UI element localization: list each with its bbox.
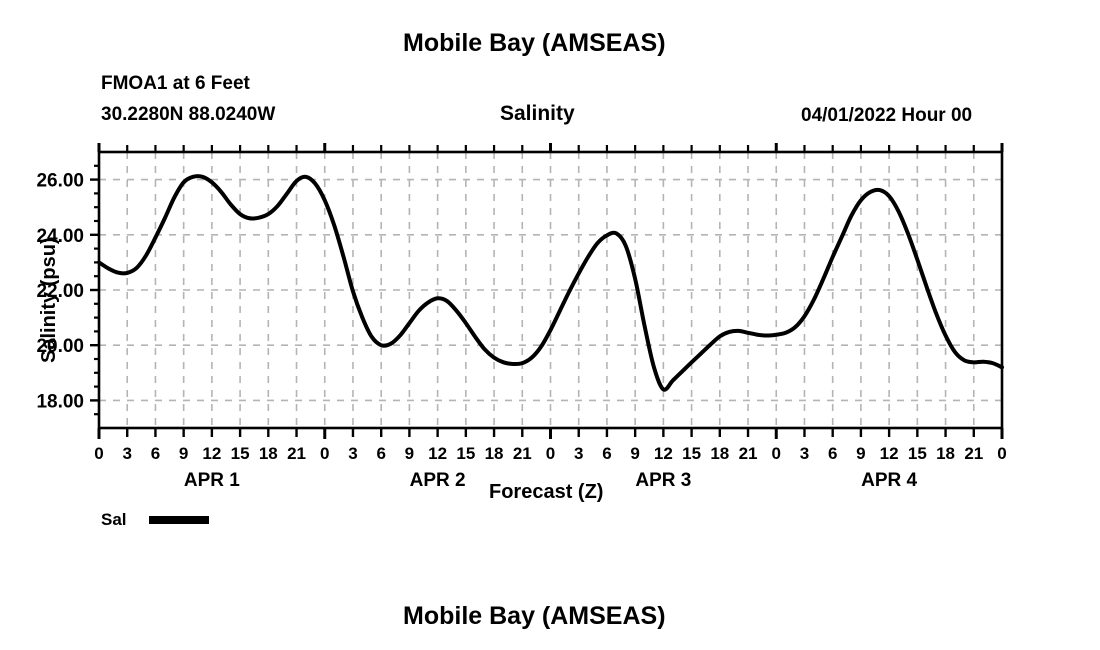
x-tick-label: 3 <box>574 444 583 463</box>
chart-page: Mobile Bay (AMSEAS) FMOA1 at 6 Feet 30.2… <box>0 0 1100 650</box>
x-tick-label: 21 <box>287 444 306 463</box>
x-tick-label: 0 <box>320 444 329 463</box>
day-label: APR 4 <box>861 470 917 491</box>
y-tick-label: 18.00 <box>36 391 84 412</box>
x-tick-label: 18 <box>259 444 278 463</box>
run-time-label: 04/01/2022 Hour 00 <box>801 105 972 127</box>
x-tick-label: 0 <box>94 444 103 463</box>
x-tick-label: 3 <box>122 444 131 463</box>
x-tick-label: 6 <box>602 444 611 463</box>
x-tick-label: 12 <box>428 444 447 463</box>
x-axis-title: Forecast (Z) <box>489 481 603 504</box>
x-tick-label: 15 <box>908 444 927 463</box>
bottom-chart-title: Mobile Bay (AMSEAS) <box>403 602 666 631</box>
day-label: APR 3 <box>635 470 691 491</box>
x-tick-label: 21 <box>513 444 532 463</box>
y-axis-tick-labels: 18.0020.0022.0024.0026.00 <box>36 171 84 413</box>
x-tick-label: 21 <box>739 444 758 463</box>
y-tick-label: 26.00 <box>36 171 84 192</box>
day-label: APR 1 <box>184 470 240 491</box>
y-tick-label: 24.00 <box>36 226 84 247</box>
x-tick-label: 9 <box>179 444 188 463</box>
x-tick-label: 15 <box>231 444 250 463</box>
top-chart-title: Mobile Bay (AMSEAS) <box>403 29 666 58</box>
x-tick-label: 18 <box>710 444 729 463</box>
x-tick-label: 3 <box>800 444 809 463</box>
x-tick-label: 15 <box>456 444 475 463</box>
x-tick-label: 0 <box>772 444 781 463</box>
x-tick-label: 9 <box>856 444 865 463</box>
x-tick-label: 0 <box>997 444 1006 463</box>
coordinates-label: 30.2280N 88.0240W <box>101 104 275 126</box>
y-axis-ticks <box>90 180 99 401</box>
legend-label-sal: Sal <box>101 510 127 530</box>
x-tick-label: 12 <box>202 444 221 463</box>
x-tick-label: 9 <box>405 444 414 463</box>
x-tick-label: 6 <box>376 444 385 463</box>
x-axis-tick-labels: 0369121518210369121518210369121518210369… <box>94 444 1006 463</box>
x-tick-label: 21 <box>964 444 983 463</box>
x-tick-label: 9 <box>630 444 639 463</box>
x-tick-label: 18 <box>936 444 955 463</box>
y-tick-label: 20.00 <box>36 336 84 357</box>
x-tick-label: 3 <box>348 444 357 463</box>
x-tick-label: 15 <box>682 444 701 463</box>
x-tick-label: 6 <box>151 444 160 463</box>
x-tick-label: 18 <box>485 444 504 463</box>
x-tick-label: 12 <box>880 444 899 463</box>
x-tick-label: 0 <box>546 444 555 463</box>
y-tick-label: 22.00 <box>36 281 84 302</box>
day-label: APR 2 <box>410 470 466 491</box>
x-tick-label: 6 <box>828 444 837 463</box>
legend-line-swatch <box>149 516 209 524</box>
chart-legend: Sal <box>101 510 209 530</box>
x-tick-label: 12 <box>654 444 673 463</box>
chart-subtitle: Salinity <box>500 102 575 126</box>
station-label: FMOA1 at 6 Feet <box>101 73 250 95</box>
